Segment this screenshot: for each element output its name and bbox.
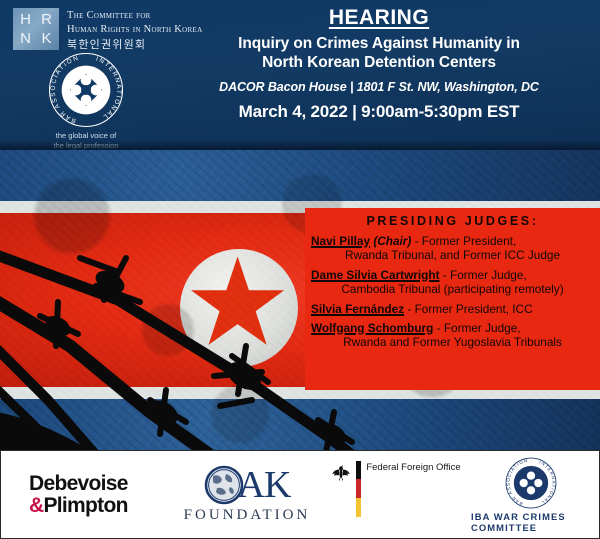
oak-wordmark: AK	[204, 465, 291, 505]
judge-line-primary: Navi Pillay (Chair) - Former President,	[311, 234, 594, 248]
judge-chair-tag: (Chair)	[373, 234, 411, 248]
presiding-judges-heading: PRESIDING JUDGES:	[311, 214, 594, 228]
judge-entry: Wolfgang Schomburg - Former Judge, Rwand…	[311, 321, 594, 350]
iba-tagline-line1: the global voice of	[34, 131, 138, 141]
judge-role-cont: Rwanda and Former Yugoslavia Tribunals	[311, 335, 594, 349]
event-poster: H R N K The Committee for Human Rights i…	[0, 0, 600, 539]
hearing-venue: DACOR Bacon House | 1801 F St. NW, Washi…	[160, 80, 598, 94]
german-eagle-icon	[331, 461, 351, 483]
hearing-title-line2: North Korean Detention Centers	[160, 54, 598, 73]
sponsor-bar: Debevoise &Plimpton AK FOUNDAT	[0, 450, 600, 539]
iba-seal-icon: INTERNATIONAL BAR ASSOCIATION	[505, 457, 557, 509]
debevoise-ampersand: &	[29, 494, 43, 517]
judge-line-primary: Silvia Fernández - Former President, ICC	[311, 302, 594, 316]
iba-logo-header: INTERNATIONAL BAR ASSOCIATION the global…	[34, 52, 138, 150]
judge-role-cont: Rwanda Tribunal, and Former ICC Judge	[311, 248, 594, 262]
judge-line-primary: Wolfgang Schomburg - Former Judge,	[311, 321, 594, 335]
hrnk-letter-h: H	[15, 10, 36, 29]
iba-seal-icon: INTERNATIONAL BAR ASSOCIATION	[48, 52, 124, 128]
sponsor-oak-foundation: AK FOUNDATION	[173, 451, 321, 538]
judge-name: Silvia Fernández	[311, 302, 404, 316]
presiding-judges-panel: PRESIDING JUDGES: Navi Pillay (Chair) - …	[305, 208, 600, 390]
ffo-label: Federal Foreign Office	[366, 461, 460, 473]
header-text-block: HEARING Inquiry on Crimes Against Humani…	[160, 6, 598, 122]
sponsor-iba-war-crimes-committee: INTERNATIONAL BAR ASSOCIATION IBA WAR CR…	[471, 451, 599, 538]
judge-entry: Navi Pillay (Chair) - Former President, …	[311, 234, 594, 263]
hrnk-letter-k: K	[36, 29, 57, 48]
hearing-title-line1: Inquiry on Crimes Against Humanity in	[160, 35, 598, 54]
oak-foundation-label: FOUNDATION	[184, 507, 311, 524]
hrnk-letter-r: R	[36, 10, 57, 29]
sponsor-debevoise-plimpton: Debevoise &Plimpton	[1, 451, 173, 538]
debevoise-plimpton: Plimpton	[43, 494, 127, 517]
poster-header: H R N K The Committee for Human Rights i…	[0, 0, 600, 150]
iba-tagline: the global voice of the legal profession	[34, 131, 138, 150]
iba-committee-label: IBA WAR CRIMES COMMITTEE	[471, 511, 591, 533]
judge-role: - Former President,	[411, 234, 516, 248]
hearing-datetime: March 4, 2022 | 9:00am-5:30pm EST	[160, 102, 598, 122]
judge-name: Wolfgang Schomburg	[311, 321, 433, 335]
ffo-lockup: Federal Foreign Office	[331, 461, 460, 517]
judge-name: Dame Silvia Cartwright	[311, 268, 440, 282]
judge-role: - Former Judge,	[433, 321, 520, 335]
german-flag-stripe-icon	[356, 461, 361, 517]
hrnk-letter-n: N	[15, 29, 36, 48]
judge-name: Navi Pillay	[311, 234, 370, 248]
debevoise-line1: Debevoise	[29, 473, 128, 494]
judge-role: - Former Judge,	[440, 268, 527, 282]
flag-image-band: PRESIDING JUDGES: Navi Pillay (Chair) - …	[0, 150, 600, 450]
debevoise-line2: &Plimpton	[29, 495, 128, 516]
judge-role: - Former President, ICC	[404, 302, 532, 316]
judge-entry: Silvia Fernández - Former President, ICC	[311, 302, 594, 316]
sponsor-federal-foreign-office: Federal Foreign Office	[321, 451, 471, 538]
iba-tagline-line2: the legal profession	[34, 141, 138, 150]
judge-role-cont: Cambodia Tribunal (participating remotel…	[311, 282, 594, 296]
judge-entry: Dame Silvia Cartwright - Former Judge, C…	[311, 268, 594, 297]
hearing-label: HEARING	[160, 6, 598, 30]
judge-line-primary: Dame Silvia Cartwright - Former Judge,	[311, 268, 594, 282]
oak-letters: AK	[238, 466, 291, 504]
hrnk-monogram-icon: H R N K	[13, 8, 59, 50]
